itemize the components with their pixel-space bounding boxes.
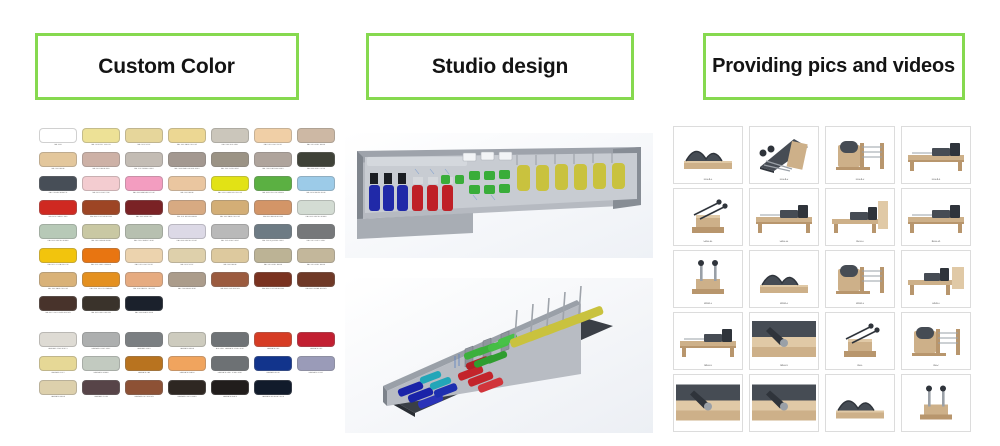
color-chip-label: RAL 7037 DUSTY GREY [296, 240, 336, 242]
chair-detail-image [674, 375, 742, 430]
color-swatch[interactable]: RAL 1026 LUMINOUS YELLOW [210, 176, 250, 199]
product-card[interactable]: MB-R-5 [749, 312, 819, 370]
color-swatch[interactable]: LAMINATE MIDNIGHT BLUE [253, 380, 293, 403]
color-chip-label: RAL 2011 DEEP ORANGE [81, 264, 121, 266]
color-swatch[interactable]: RAL 7048 PEARL MOUSE GREY [167, 152, 207, 175]
color-swatch[interactable]: RAL 1011 BROWN BEIGE [167, 200, 207, 223]
color-chip-label: RAL 1001 BEIGE [210, 264, 250, 266]
color-chip-label: RAL 1001 BEIGE [38, 168, 78, 170]
product-caption: BD-R-15 [932, 241, 941, 244]
color-chip-label: LAMINATE BLUE [253, 372, 293, 374]
product-card[interactable]: GB-R-11 [749, 188, 819, 246]
color-chip[interactable] [125, 248, 163, 263]
color-chip-label: RAL 9016 [38, 144, 78, 146]
color-chip[interactable] [125, 332, 163, 347]
color-swatch[interactable]: RAL 7002 OLIVE GREY [210, 152, 250, 175]
product-card[interactable]: BD-R-1 [825, 188, 895, 246]
color-swatch[interactable]: RAL 1002 SAND YELLOW [167, 128, 207, 151]
color-chip-label: RAL 8017 CHOCOLATE BROWN [38, 312, 78, 314]
barrel-ladder-unit-image [902, 313, 970, 365]
color-chip[interactable] [39, 200, 77, 215]
pole-chair-partial-image [902, 375, 970, 430]
color-chip-label: RAL 4009 PASTEL VIOLET [167, 240, 207, 242]
pilates-chair-high-image [674, 189, 742, 241]
color-swatch[interactable]: LAMINATE PEACH [167, 356, 207, 379]
color-chip[interactable] [39, 152, 77, 167]
swatch-row: LAMINATE SOFTLAMINATE GREENLAMINATE OAKL… [38, 356, 330, 379]
studio-layout-perspective-view [345, 278, 653, 433]
reformer-image [902, 127, 970, 179]
color-swatch[interactable]: RAL 6006 GREY OLIVE [296, 152, 336, 175]
color-chip-label: RAL 5004 BLACK BLUE [124, 312, 164, 314]
color-chip-label: RAL 1014 IVORY [124, 144, 164, 146]
product-caption: MB-R-4 [704, 365, 712, 368]
color-chip-label: RAL 8004 COPPER BROWN [81, 216, 121, 218]
color-chip-label: RAL 1021 COLZA YELLOW [38, 264, 78, 266]
color-chip-label: LAMINATE BLACK [210, 396, 250, 398]
color-chip[interactable] [254, 248, 292, 263]
product-caption: BR-2 [934, 365, 939, 368]
studio-layout-top-view [345, 133, 653, 258]
swatch-row: RAL 1002 SAND YELLOWRAL 2000 YELLOW ORAN… [38, 272, 330, 295]
color-chip[interactable] [168, 380, 206, 395]
color-chip[interactable] [168, 356, 206, 371]
color-chip[interactable] [82, 176, 120, 191]
color-chip-label: RAL 1011 BROWN BEIGE [167, 216, 207, 218]
color-swatch[interactable]: RAL 1015 LIGHT IVORY [253, 128, 293, 151]
color-chip-label: RAL 1019 GREY BEIGE [253, 264, 293, 266]
color-swatch[interactable]: RAL 7044 SILK GREY [210, 128, 250, 151]
product-caption: PDL-B-1 [704, 179, 712, 182]
color-chip-label: RAL 3015 LIGHT PINK [81, 192, 121, 194]
swatch-row: RAL 1021 COLZA YELLOWRAL 2011 DEEP ORANG… [38, 248, 330, 271]
product-card[interactable]: PDL-B-4 [901, 126, 971, 184]
color-chip-label: RAL 7036 PLATINUM GREY [253, 168, 293, 170]
color-swatch[interactable]: RAL 8002 SIGNAL BROWN [296, 272, 336, 295]
color-swatch[interactable]: LAMINATE BEIGE [167, 332, 207, 355]
swatch-row: RAL 9016RAL 1018 ZINC YELLOWRAL 1014 IVO… [38, 128, 330, 151]
color-chip[interactable] [168, 332, 206, 347]
color-swatch[interactable]: RAL 1014 IVORY [124, 128, 164, 151]
color-chip-label: LAMINATE GREY STEEL GREY [210, 372, 250, 374]
color-chip-label: RAL 7000 SQUIRREL GREY [253, 240, 293, 242]
color-swatch[interactable]: LAMINATE OAK [124, 356, 164, 379]
product-card[interactable]: WB-B-2 [749, 250, 819, 308]
color-chip-label: LAMINATE CHOCOLATE [167, 396, 207, 398]
color-chip[interactable] [82, 356, 120, 371]
combo-chair-image [826, 313, 894, 365]
reformer-wood-image [750, 189, 818, 241]
swatch-section-main-palette: RAL 9016RAL 1018 ZINC YELLOWRAL 1014 IVO… [38, 128, 330, 319]
color-swatch[interactable]: LAMINATE LIGHT GREY [81, 332, 121, 355]
color-swatch[interactable]: RAL 7035 LIGHT GREY [210, 224, 250, 247]
color-swatch[interactable]: RAL 6019 PASTEL GREEN [296, 200, 336, 223]
swatch-row: RAL 1001 BEIGERAL 3012 BEIGE REDRAL 7032… [38, 152, 330, 175]
color-chip[interactable] [297, 152, 335, 167]
color-chip[interactable] [39, 128, 77, 143]
color-swatch[interactable]: RAL 1014 IVORY [167, 248, 207, 271]
color-swatch[interactable]: RAL 5024 PASTEL BLUE [296, 176, 336, 199]
column-studio-design: Studio design [333, 0, 667, 446]
color-chip[interactable] [168, 224, 206, 239]
color-chip-label: RAL 8024 BEIGE BROWN [253, 216, 293, 218]
color-swatch[interactable]: RAL 6019 PASTEL GREEN [38, 224, 78, 247]
chart-section-gap [38, 319, 330, 332]
product-photo-grid: PDL-B-1 PDL-B-2 [673, 126, 971, 432]
barrel-frame-unit-image [826, 251, 894, 303]
color-chip-label: LAMINATE RED [253, 348, 293, 350]
color-swatch[interactable]: RAL 1019 GREY BEIGE [296, 248, 336, 271]
color-chip[interactable] [211, 248, 249, 263]
color-chip-label: LAMINATE LIGHT GREY [81, 348, 121, 350]
color-chip-label: LAMINATE SOFT [38, 372, 78, 374]
color-swatch[interactable]: LAMINATE BEIGE [38, 380, 78, 403]
color-chip-label: RAL 1015 LIGHT IVORY [124, 264, 164, 266]
color-swatch[interactable]: RAL 1002 SAND YELLOW [210, 200, 250, 223]
color-chip[interactable] [125, 152, 163, 167]
color-chip-label: ALU GREY LAMINATE STEEL GREY [210, 348, 250, 350]
color-swatch[interactable]: LAMINATE GREEN [81, 356, 121, 379]
color-swatch[interactable]: RAL 2011 DEEP ORANGE [81, 248, 121, 271]
color-swatch[interactable]: RAL 8017 CHOCOLATE BROWN [38, 296, 78, 319]
color-swatch[interactable]: RAL 1001 BEIGE [167, 176, 207, 199]
color-chip-label: RAL 1015 LIGHT IVORY [253, 144, 293, 146]
color-chip[interactable] [82, 296, 120, 311]
color-chip[interactable] [211, 356, 249, 371]
color-chip[interactable] [39, 224, 77, 239]
color-chip-label: LAMINATE BEIGE [38, 396, 78, 398]
color-swatch[interactable]: RAL 6018 YELLOW GREEN [253, 176, 293, 199]
color-chip[interactable] [297, 200, 335, 215]
color-chip-label: RAL 1034 PASTEL YELLOW [124, 288, 164, 290]
color-chip-label: LAMINATE GREEN [81, 372, 121, 374]
color-chip[interactable] [39, 272, 77, 287]
color-swatch[interactable]: RAL 7036 PLATINUM GREY [253, 152, 293, 175]
product-caption: HB-B-1 [932, 303, 939, 306]
color-chip[interactable] [254, 380, 292, 395]
reformer-tower-image [826, 189, 894, 241]
color-swatch[interactable]: RAL 9016 [38, 128, 78, 151]
column-custom-color: Custom Color RAL 9016RAL 1018 ZINC YELLO… [0, 0, 333, 446]
color-chip-label: RAL 3012 BEIGE RED [81, 168, 121, 170]
color-swatch[interactable]: RAL 1034 PASTEL YELLOW [124, 272, 164, 295]
color-chip[interactable] [82, 152, 120, 167]
color-chip[interactable] [211, 152, 249, 167]
color-swatch[interactable]: LAMINATE BLACK [210, 380, 250, 403]
color-chip-label: RAL 3005 WINE RED [124, 216, 164, 218]
product-card[interactable]: WB-B-1 [673, 250, 743, 308]
color-chip[interactable] [254, 356, 292, 371]
color-chip-label: LAMINATE PEACH [167, 372, 207, 374]
color-chip[interactable] [297, 332, 335, 347]
color-chip[interactable] [297, 224, 335, 239]
color-chip[interactable] [39, 332, 77, 347]
color-swatch[interactable]: LAMINATE PINE GREY D [38, 332, 78, 355]
color-chip[interactable] [39, 380, 77, 395]
swatch-section-secondary-palette: LAMINATE PINE GREY DLAMINATE LIGHT GREYL… [38, 332, 330, 403]
color-swatch-chart: RAL 9016RAL 1018 ZINC YELLOWRAL 1014 IVO… [38, 128, 330, 403]
color-chip[interactable] [168, 176, 206, 191]
color-swatch[interactable]: RAL 5004 BLACK BLUE [124, 296, 164, 319]
color-chip-label: LAMINATE MIDNIGHT BLUE [253, 396, 293, 398]
color-chip-label: LAMINATE PLUM [81, 396, 121, 398]
color-chip[interactable] [168, 152, 206, 167]
color-swatch[interactable]: RAL 7033 CEMENT GREY [124, 224, 164, 247]
color-chip[interactable] [82, 332, 120, 347]
swatch-row: RAL 6019 PASTEL GREENRAL 1000 GREEN BEIG… [38, 224, 330, 247]
color-chip-label: RAL 7044 SILK GREY [210, 144, 250, 146]
color-chip[interactable] [254, 224, 292, 239]
color-swatch[interactable]: RAL 8004 COPPER BROWN [253, 272, 293, 295]
color-chip-label: RAL 1002 SAND YELLOW [167, 144, 207, 146]
reformer-with-box-image [902, 251, 970, 303]
color-chip-label: RAL 1019 GREY BEIGE [296, 264, 336, 266]
color-swatch[interactable]: LAMINATE GREY [124, 332, 164, 355]
color-swatch[interactable]: LAMINATE GREY STEEL GREY [210, 356, 250, 379]
color-chip[interactable] [125, 224, 163, 239]
swatch-row: LAMINATE PINE GREY DLAMINATE LIGHT GREYL… [38, 332, 330, 355]
color-chip-label: RAL 7048 PEARL MOUSE GREY [167, 168, 207, 170]
color-swatch[interactable]: LAMINATE VIOLET [296, 356, 336, 379]
color-swatch[interactable]: RAL 7032 PEBBLE GREY [124, 152, 164, 175]
color-chip-label: RAL 1018 ZINC YELLOW [81, 144, 121, 146]
product-card[interactable]: GB-R-01 [673, 188, 743, 246]
color-chip-label: LAMINATE GREY [124, 348, 164, 350]
three-column-board: Custom Color RAL 9016RAL 1018 ZINC YELLO… [0, 0, 1000, 446]
color-chip[interactable] [82, 248, 120, 263]
color-chip[interactable] [297, 128, 335, 143]
color-chip[interactable] [125, 176, 163, 191]
product-caption: BR-1 [858, 365, 863, 368]
color-chip-label: RAL 7035 LIGHT GREY [210, 240, 250, 242]
color-chip[interactable] [125, 272, 163, 287]
color-swatch[interactable]: LAMINATE RED [296, 332, 336, 355]
color-chip[interactable] [82, 272, 120, 287]
color-chip[interactable] [211, 380, 249, 395]
product-caption: WB-B-3 [856, 303, 864, 306]
product-caption: PDL-B-3 [856, 179, 864, 182]
color-swatch[interactable]: RAL 1018 ZINC YELLOW [81, 128, 121, 151]
color-chip-label: LAMINATE RED [296, 348, 336, 350]
color-swatch[interactable]: ALU GREY LAMINATE STEEL GREY [210, 332, 250, 355]
color-chip[interactable] [82, 128, 120, 143]
color-chip-label: LAMINATE BEIGE [167, 348, 207, 350]
color-swatch[interactable]: RAL 7016 ANTHRACITE [38, 176, 78, 199]
color-chip[interactable] [211, 200, 249, 215]
ladder-barrel-image [674, 127, 742, 179]
spine-corrector-barrel-image [826, 127, 894, 179]
color-chip-label: RAL 8019 GREY BROWN [81, 312, 121, 314]
color-swatch[interactable]: LAMINATE BLUE [253, 356, 293, 379]
color-chip[interactable] [39, 248, 77, 263]
reformer-detail-closeup-image [750, 313, 818, 365]
color-chip[interactable] [254, 128, 292, 143]
color-chip[interactable] [39, 356, 77, 371]
product-caption: PDL-B-4 [932, 179, 940, 182]
pole-chair-image [674, 251, 742, 303]
color-chip[interactable] [297, 176, 335, 191]
color-chip-label: LAMINATE VIOLET [296, 372, 336, 374]
color-swatch[interactable]: RAL 7000 SQUIRREL GREY [253, 224, 293, 247]
column-providing-pics-and-videos: Providing pics and videos PDL-B-1 PDL-B-… [667, 0, 1000, 446]
color-swatch[interactable]: RAL 8004 COPPER BROWN [81, 200, 121, 223]
reformer-headrest-image [750, 375, 818, 430]
color-chip[interactable] [254, 272, 292, 287]
product-card[interactable]: PDL-B-1 [673, 126, 743, 184]
product-caption: MB-R-5 [780, 365, 788, 368]
color-swatch[interactable]: RAL 8019 GREY BROWN [81, 296, 121, 319]
color-chip[interactable] [211, 332, 249, 347]
color-chip[interactable] [254, 332, 292, 347]
color-chip-label: RAL 7006 BEIGE GREY [167, 288, 207, 290]
product-card[interactable]: BR-1 [825, 312, 895, 370]
color-swatch[interactable]: LAMINATE RED [253, 332, 293, 355]
color-chip-label: RAL 1001 BEIGE [167, 192, 207, 194]
color-chip-label: LAMINATE OAK [124, 372, 164, 374]
color-chip-label: RAL 1014 IVORY [167, 264, 207, 266]
color-chip-label: RAL 1002 SAND YELLOW [38, 288, 78, 290]
swatch-row: RAL 7016 ANTHRACITERAL 3015 LIGHT PINKRA… [38, 176, 330, 199]
reformer-side-image [674, 313, 742, 365]
product-card[interactable]: WB-B-3 [825, 250, 895, 308]
reformer-dark-image [902, 189, 970, 241]
product-card[interactable]: MB-R-4 [673, 312, 743, 370]
color-swatch[interactable]: RAL 8024 BEIGE BROWN [253, 200, 293, 223]
color-chip-label: RAL 6006 GREY OLIVE [296, 168, 336, 170]
color-swatch[interactable]: LAMINATE CHOCOLATE [167, 380, 207, 403]
color-chip-label: RAL 8003 CLAY BROWN [210, 288, 250, 290]
color-chip[interactable] [125, 296, 163, 311]
color-chip[interactable] [168, 248, 206, 263]
arc-barrel-image [750, 251, 818, 303]
color-chip[interactable] [254, 200, 292, 215]
color-swatch[interactable]: RAL 1019 GREY BEIGE [296, 128, 336, 151]
color-chip-label: RAL 6019 PASTEL GREEN [38, 240, 78, 242]
color-swatch[interactable]: RAL 1000 GREEN BEIGE [81, 224, 121, 247]
cad-render-area [333, 0, 667, 446]
color-chip[interactable] [254, 152, 292, 167]
wall-unit-tower-image [750, 127, 818, 179]
header-custom-color: Custom Color [35, 33, 299, 100]
color-chip-label: RAL 6018 YELLOW GREEN [253, 192, 293, 194]
color-chip[interactable] [211, 272, 249, 287]
color-chip-label: RAL 1002 SAND YELLOW [210, 216, 250, 218]
color-chip-label: RAL 1000 GREEN BEIGE [81, 240, 121, 242]
color-swatch[interactable]: RAL 1015 LIGHT IVORY [124, 248, 164, 271]
color-chip-label: RAL 4003 HEATHER VIOLET [124, 192, 164, 194]
barrel-partial-image [826, 375, 894, 430]
color-chip-label: RAL 7002 OLIVE GREY [210, 168, 250, 170]
header-providing-pics-and-videos: Providing pics and videos [703, 33, 965, 100]
color-chip-label: RAL 1026 LUMINOUS YELLOW [210, 192, 250, 194]
color-chip-label: RAL 3020 TRAFFIC RED [38, 216, 78, 218]
color-swatch[interactable]: RAL 3015 LIGHT PINK [81, 176, 121, 199]
color-chip[interactable] [254, 176, 292, 191]
color-swatch[interactable]: RAL 7006 BEIGE GREY [167, 272, 207, 295]
color-chip-label: LAMINATE PINE GREY D [38, 348, 78, 350]
product-card[interactable] [749, 374, 819, 432]
color-chip[interactable] [297, 248, 335, 263]
color-chip[interactable] [211, 224, 249, 239]
color-chip-label: RAL 5024 PASTEL BLUE [296, 192, 336, 194]
product-caption: WB-B-1 [704, 303, 712, 306]
color-swatch[interactable]: RAL 1021 COLZA YELLOW [38, 248, 78, 271]
color-swatch[interactable]: RAL 4003 HEATHER VIOLET [124, 176, 164, 199]
color-chip-label: RAL 8002 SIGNAL BROWN [296, 288, 336, 290]
color-chip[interactable] [125, 128, 163, 143]
color-swatch[interactable]: RAL 4009 PASTEL VIOLET [167, 224, 207, 247]
color-chip[interactable] [211, 176, 249, 191]
product-caption: PDL-B-2 [780, 179, 788, 182]
color-chip[interactable] [82, 224, 120, 239]
color-chip-label: RAL 1019 GREY BEIGE [296, 144, 336, 146]
color-chip[interactable] [82, 380, 120, 395]
color-chip[interactable] [168, 272, 206, 287]
color-chip-label: RAL 6019 PASTEL GREEN [296, 216, 336, 218]
product-caption: WB-B-2 [780, 303, 788, 306]
color-swatch[interactable]: RAL 1002 SAND YELLOW [38, 272, 78, 295]
color-chip-label: RAL 7033 CEMENT GREY [124, 240, 164, 242]
color-swatch[interactable]: RAL 7037 DUSTY GREY [296, 224, 336, 247]
color-chip[interactable] [211, 128, 249, 143]
product-caption: BD-R-1 [856, 241, 863, 244]
color-chip[interactable] [168, 128, 206, 143]
color-chip-label: RAL 8004 COPPER BROWN [253, 288, 293, 290]
color-swatch[interactable]: RAL 1019 GREY BEIGE [253, 248, 293, 271]
color-chip[interactable] [39, 296, 77, 311]
color-chip[interactable] [297, 356, 335, 371]
color-chip-label: RAL 7032 PEBBLE GREY [124, 168, 164, 170]
color-chip-label: RAL 2000 YELLOW ORANGE [81, 288, 121, 290]
product-card[interactable]: PDL-B-3 [825, 126, 895, 184]
product-caption: GB-R-01 [704, 241, 713, 244]
product-card[interactable] [673, 374, 743, 432]
swatch-row: RAL 3020 TRAFFIC REDRAL 8004 COPPER BROW… [38, 200, 330, 223]
color-swatch[interactable]: RAL 8003 CLAY BROWN [210, 272, 250, 295]
color-swatch[interactable]: LAMINATE PLUM [81, 380, 121, 403]
color-chip[interactable] [297, 272, 335, 287]
product-card[interactable]: PDL-B-2 [749, 126, 819, 184]
color-chip[interactable] [125, 380, 163, 395]
color-chip[interactable] [168, 200, 206, 215]
color-chip-label: LAMINATE NUT BROWN [124, 396, 164, 398]
color-chip-label: RAL 7016 ANTHRACITE [38, 192, 78, 194]
color-swatch[interactable]: RAL 3020 TRAFFIC RED [38, 200, 78, 223]
swatch-row: RAL 8017 CHOCOLATE BROWNRAL 8019 GREY BR… [38, 296, 330, 319]
product-card[interactable]: HB-B-1 [901, 250, 971, 308]
color-swatch[interactable]: LAMINATE NUT BROWN [124, 380, 164, 403]
color-swatch[interactable]: LAMINATE SOFT [38, 356, 78, 379]
product-card[interactable]: BR-2 [901, 312, 971, 370]
color-swatch[interactable]: RAL 1001 BEIGE [38, 152, 78, 175]
product-card[interactable] [825, 374, 895, 432]
color-chip[interactable] [125, 356, 163, 371]
product-caption: GB-R-11 [780, 241, 788, 244]
color-swatch[interactable]: RAL 3012 BEIGE RED [81, 152, 121, 175]
product-card[interactable]: BD-R-15 [901, 188, 971, 246]
color-swatch[interactable]: RAL 1001 BEIGE [210, 248, 250, 271]
color-chip[interactable] [125, 200, 163, 215]
color-chip[interactable] [82, 200, 120, 215]
color-swatch[interactable]: RAL 3005 WINE RED [124, 200, 164, 223]
swatch-row: LAMINATE BEIGELAMINATE PLUMLAMINATE NUT … [38, 380, 330, 403]
product-card[interactable] [901, 374, 971, 432]
color-swatch[interactable]: RAL 2000 YELLOW ORANGE [81, 272, 121, 295]
color-chip[interactable] [39, 176, 77, 191]
